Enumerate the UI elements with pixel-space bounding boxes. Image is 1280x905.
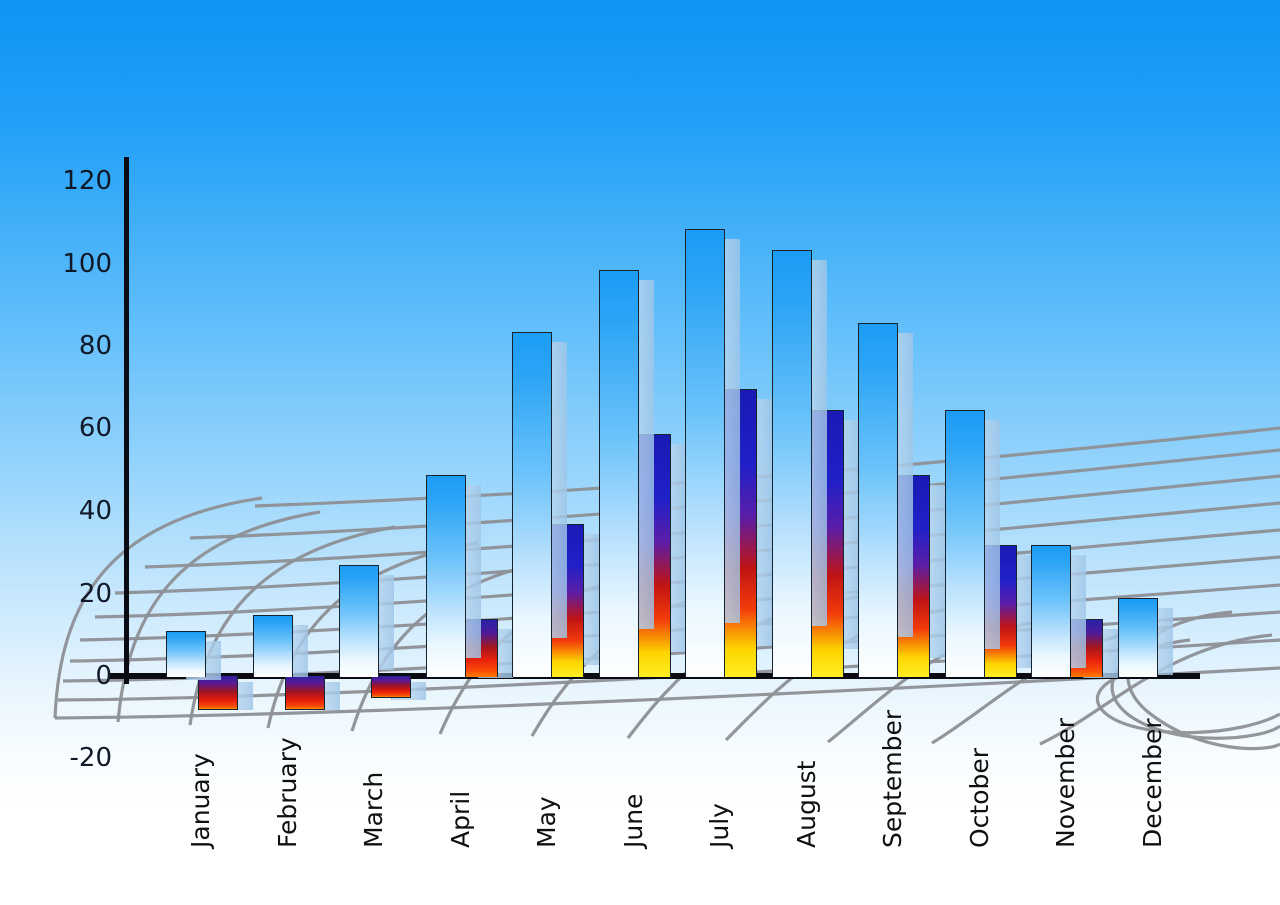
chart-canvas: 120 100 80 60 40 20 0 -20 JanuaryFebruar…: [0, 0, 1280, 905]
bar-july-series1[interactable]: [685, 229, 725, 677]
y-axis-label-neg20: -20: [40, 745, 112, 771]
x-axis-label-october: October: [967, 748, 992, 848]
bar-january-series1[interactable]: [166, 631, 206, 677]
x-axis-label-march: March: [361, 772, 386, 848]
x-axis-label-june: June: [621, 794, 646, 848]
x-axis-label-november: November: [1053, 718, 1078, 848]
y-axis-label-80: 80: [52, 333, 112, 359]
bar-february-series2[interactable]: [285, 676, 325, 710]
bar-march-series2[interactable]: [371, 676, 411, 698]
bar-october-series1[interactable]: [945, 410, 985, 678]
x-axis-label-august: August: [794, 761, 819, 849]
bar-april-series1[interactable]: [426, 475, 466, 677]
bar-january-series2[interactable]: [198, 676, 238, 710]
y-axis-label-40: 40: [52, 498, 112, 524]
x-axis-label-december: December: [1140, 718, 1165, 848]
y-axis-label-100: 100: [52, 251, 112, 277]
x-axis-label-february: February: [275, 737, 300, 848]
x-axis-label-may: May: [534, 796, 559, 848]
bar-december-series1[interactable]: [1118, 598, 1158, 677]
y-axis-label-20: 20: [52, 581, 112, 607]
bar-september-series1[interactable]: [858, 323, 898, 677]
y-axis-line: [124, 157, 129, 684]
x-axis-label-april: April: [448, 791, 473, 848]
y-axis-label-120: 120: [52, 168, 112, 194]
y-axis-label-0: 0: [52, 663, 112, 689]
bar-november-series1[interactable]: [1031, 545, 1071, 677]
bar-august-series1[interactable]: [772, 250, 812, 677]
x-axis-label-july: July: [707, 803, 732, 848]
bar-february-series1[interactable]: [253, 615, 293, 678]
x-axis-label-january: January: [188, 753, 213, 848]
bar-may-series1[interactable]: [512, 332, 552, 677]
plot-area: 120 100 80 60 40 20 0 -20 JanuaryFebruar…: [0, 0, 1280, 905]
bar-june-series1[interactable]: [599, 270, 639, 677]
x-axis-label-september: September: [880, 710, 905, 848]
y-axis-label-60: 60: [52, 415, 112, 441]
bar-march-series1[interactable]: [339, 565, 379, 677]
